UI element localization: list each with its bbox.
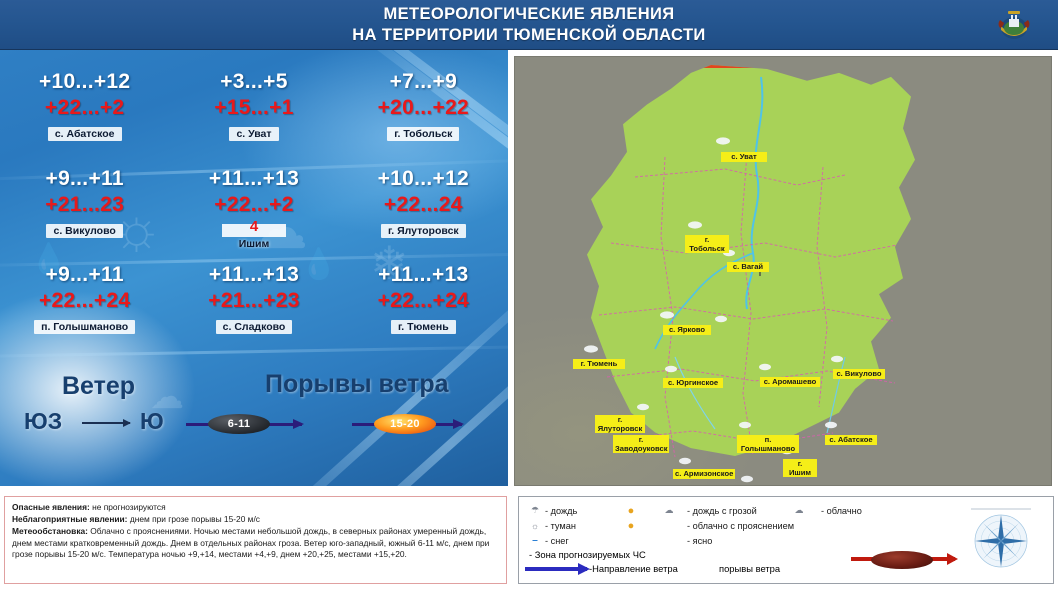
- forecast-cell: +3...+5 +15...+1 с. Уват: [169, 64, 338, 161]
- day-temperature: +20...+22: [378, 96, 469, 120]
- map-city-label: п.Голышманово: [737, 435, 799, 453]
- forecast-cell: +9...+11 +22...+24 п. Голышманово: [0, 257, 169, 354]
- hazard-line: Опасные явления: не прогнозируются: [12, 502, 499, 513]
- night-temperature: +11...+13: [209, 167, 299, 191]
- legend-item: ☼ - туман: [527, 518, 577, 533]
- forecast-cell: +10...+12 +22...+2 с. Абатское: [0, 64, 169, 161]
- legend-item: ● - облачно с прояснением: [623, 518, 794, 533]
- forecast-grid: +10...+12 +22...+2 с. Абатское +3...+5 +…: [0, 64, 508, 354]
- hazard-label: Опасные явления:: [12, 502, 90, 512]
- snow-icon: ⎯: [527, 535, 543, 546]
- legend-label: - Зона прогнозируемых ЧС: [529, 549, 646, 560]
- map-city-label: с. Абатское: [825, 435, 877, 445]
- city-label: г. Тобольск: [387, 127, 459, 141]
- legend-gust-label: порывы ветра: [719, 563, 780, 574]
- night-temperature: +7...+9: [390, 70, 458, 94]
- day-temperature: +21...+23: [208, 289, 299, 313]
- wind-direction-arrow-icon: [82, 422, 130, 424]
- forecast-cell: +10...+12 +22...24 г. Ялуторовск: [339, 161, 508, 258]
- legend-item: ☂ - дождь: [527, 503, 577, 518]
- weather-infographic: МЕТЕОРОЛОГИЧЕСКИЕ ЯВЛЕНИЯ НА ТЕРРИТОРИИ …: [0, 0, 1058, 591]
- wind-section: Ветер Порывы ветра ЮЗ Ю 6-11 15-20: [0, 366, 508, 476]
- day-temperature: +15...+1: [214, 96, 293, 120]
- day-temperature: +22...24: [384, 193, 463, 217]
- forecast-cell: +11...+13 +21...+23 с. Сладково: [169, 257, 338, 354]
- city-label: с. Сладково: [216, 320, 293, 334]
- map-city-label: г.Ялуторовск: [595, 415, 645, 433]
- cloudy-icon: ☁: [791, 505, 807, 516]
- day-temperature: +22...+2: [214, 193, 293, 217]
- city-marker-number: 4: [222, 218, 286, 235]
- cloud-small-icon: ☁: [661, 505, 677, 516]
- night-temperature: +10...+12: [378, 167, 469, 191]
- wind-speed-indicator: 6-11: [186, 414, 302, 434]
- situation-line: Метеообстановка: Облачно с прояснениями.…: [12, 526, 499, 560]
- legend-label: - снег: [545, 536, 569, 546]
- night-temperature: +3...+5: [220, 70, 288, 94]
- city-label: с. Викулово: [46, 224, 122, 238]
- wind-direction-arrow-icon: [525, 567, 587, 571]
- partly-cloudy-icon: ●: [623, 520, 639, 532]
- fog-icon: ☼: [527, 521, 543, 531]
- map-city-label: с. Викулово: [833, 369, 885, 379]
- page-header: МЕТЕОРОЛОГИЧЕСКИЕ ЯВЛЕНИЯ НА ТЕРРИТОРИИ …: [0, 0, 1058, 50]
- gust-symbol-icon: [849, 549, 959, 571]
- map-legend: ☂ - дождь ☼ - туман ⎯ - снег ● ☁ - дождь…: [518, 496, 1054, 584]
- legend-column-3: ☁ - облачно: [791, 503, 862, 518]
- hazard-value: не прогнозируются: [92, 502, 166, 512]
- city-label: с. Абатское: [48, 127, 122, 141]
- situation-label: Метеообстановка:: [12, 526, 88, 536]
- tyumen-coat-of-arms-icon: [994, 6, 1034, 44]
- legend-item: ⎯ - снег: [527, 533, 577, 548]
- day-temperature: +21...23: [45, 193, 124, 217]
- legend-item: ☁ - облачно: [791, 503, 862, 518]
- day-temperature: +22...+24: [39, 289, 130, 313]
- legend-column-2: ● ☁ - дождь с грозой ● - облачно с прояс…: [623, 503, 794, 548]
- adverse-line: Неблагоприятные явлении: днем при грозе …: [12, 514, 499, 525]
- legend-label: - облачно: [821, 506, 862, 516]
- legend-label: - туман: [545, 521, 576, 531]
- region-map[interactable]: с. Уватг.Тобольскс. Вагайс. Ярковог. Тюм…: [514, 56, 1052, 486]
- gust-heading: Порывы ветра: [265, 370, 449, 399]
- legend-column-1: ☂ - дождь ☼ - туман ⎯ - снег: [527, 503, 577, 548]
- page-title: МЕТЕОРОЛОГИЧЕСКИЕ ЯВЛЕНИЯ НА ТЕРРИТОРИИ …: [0, 4, 1058, 46]
- night-temperature: +10...+12: [39, 70, 130, 94]
- wind-speed-value: 6-11: [208, 414, 270, 434]
- city-label: г. Ялуторовск: [381, 224, 466, 238]
- legend-label: - дождь: [545, 506, 577, 516]
- map-city-label: г. Тюмень: [573, 359, 625, 369]
- gust-speed-indicator: 15-20: [352, 414, 462, 434]
- city-label: г. Тюмень: [391, 320, 456, 334]
- map-city-label: с. Уват: [721, 152, 767, 162]
- map-city-label: с. Вагай: [727, 262, 769, 272]
- compass-rose-icon: [963, 505, 1039, 577]
- adverse-value: днем при грозе порывы 15-20 м/с: [130, 514, 260, 524]
- forecast-cell: +11...+13 +22...+24 г. Тюмень: [339, 257, 508, 354]
- legend-item: - ясно: [623, 533, 794, 548]
- legend-label: - облачно с прояснением: [687, 521, 794, 531]
- legend-label: - ясно: [687, 536, 712, 546]
- map-city-label: с. Армизонское: [673, 469, 735, 479]
- legend-label: - дождь с грозой: [687, 506, 757, 516]
- map-city-label: с. Ярково: [663, 325, 711, 335]
- summary-textbox: Опасные явления: не прогнозируются Небла…: [4, 496, 507, 584]
- day-temperature: +22...+2: [45, 96, 124, 120]
- day-temperature: +22...+24: [378, 289, 469, 313]
- map-city-label: г.Ишим: [783, 459, 817, 477]
- city-label: п. Голышманово: [34, 320, 135, 334]
- night-temperature: +11...+13: [209, 263, 299, 287]
- wind-direction-to: Ю: [140, 408, 164, 435]
- forecast-cell: +7...+9 +20...+22 г. Тобольск: [339, 64, 508, 161]
- city-marker-box: 4: [222, 224, 286, 237]
- map-city-label: с. Аромашево: [760, 377, 820, 387]
- adverse-label: Неблагоприятные явлении:: [12, 514, 127, 524]
- map-city-label: с. Юргинское: [663, 378, 723, 388]
- title-line-1: МЕТЕОРОЛОГИЧЕСКИЕ ЯВЛЕНИЯ: [383, 5, 674, 23]
- legend-label: -Направление ветра: [589, 563, 678, 574]
- gust-speed-value: 15-20: [374, 414, 436, 434]
- legend-direction-item: -Направление ветра: [525, 563, 678, 574]
- map-city-label: г.Заводоуковск: [613, 435, 669, 453]
- night-temperature: +9...+11: [46, 263, 124, 287]
- forecast-cell: +9...+11 +21...23 с. Викулово: [0, 161, 169, 258]
- wind-heading: Ветер: [62, 372, 135, 401]
- wind-direction-from: ЮЗ: [24, 408, 62, 435]
- map-city-label: г.Тобольск: [685, 235, 729, 253]
- forecast-panel: ☼ ☁ ❄ 💧 💧 ☁ +10...+12 +22...+2 с. Абатск…: [0, 50, 508, 486]
- city-label: Ишим: [239, 238, 270, 250]
- forecast-cell: +11...+13 +22...+2 4 Ишим: [169, 161, 338, 258]
- night-temperature: +11...+13: [378, 263, 468, 287]
- thunderstorm-icon: ●: [623, 505, 639, 517]
- legend-item: ● ☁ - дождь с грозой: [623, 503, 794, 518]
- title-line-2: НА ТЕРРИТОРИИ ТЮМЕНСКОЙ ОБЛАСТИ: [0, 25, 1058, 46]
- legend-zone-item: - Зона прогнозируемых ЧС: [529, 549, 646, 560]
- city-label: с. Уват: [229, 127, 278, 141]
- night-temperature: +9...+11: [46, 167, 124, 191]
- rain-icon: ☂: [527, 505, 543, 516]
